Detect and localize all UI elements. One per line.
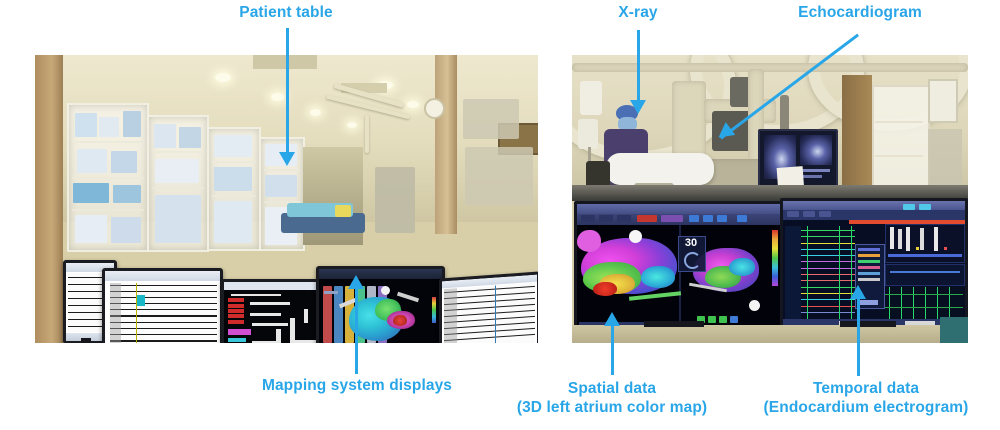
toolbar-chip [581, 215, 595, 222]
eg-trace [801, 243, 855, 244]
grid-line [949, 287, 950, 320]
arrow-patient-table-head [279, 152, 295, 166]
supply-pack [214, 135, 252, 157]
toolbar-chip [661, 215, 683, 222]
label-mapping-system-displays: Mapping system displays [237, 376, 477, 395]
atrium-voltage-red-zone [593, 282, 617, 296]
spatial-data-line1: Spatial data [568, 380, 656, 397]
label-echocardiogram: Echocardiogram [760, 3, 960, 22]
supply-pack [155, 195, 201, 243]
eg-trace [801, 261, 855, 262]
supply-pack [75, 215, 107, 243]
trace-cursor [495, 286, 496, 343]
toolbar-chip [787, 211, 799, 217]
arrow-mapping-displays-head [348, 275, 364, 289]
iv-bag [580, 81, 602, 115]
catheter-tail [397, 292, 419, 303]
bottom-toolbar-chip [708, 316, 716, 323]
grid-line [937, 287, 938, 320]
ceiling-vent [253, 55, 317, 69]
toolbar-chip [819, 211, 831, 217]
eg-trace [801, 306, 855, 307]
toolbar-chip [599, 215, 613, 222]
spatial-data-line2: (3D left atrium color map) [517, 399, 707, 416]
toolbar-chip [637, 215, 657, 222]
supply-pack [75, 113, 97, 137]
patient-table-item [335, 205, 351, 217]
screen-label [324, 291, 338, 294]
toolbar-chip [903, 204, 915, 210]
ceiling-boom-arm [365, 115, 369, 153]
supply-pack [123, 111, 141, 137]
toolbar-chip [689, 215, 699, 222]
arrow-spatial-data-head [604, 312, 620, 326]
secondary-pane [885, 224, 965, 264]
temporal-data-line2: (Endocardium electrogram) [764, 399, 969, 416]
wall-clock-icon [424, 98, 445, 119]
label-spatial-data: Spatial data (3D left atrium color map) [492, 379, 732, 417]
grid-line [901, 287, 902, 320]
sweep-marker [807, 226, 808, 322]
grid-traces-pane [885, 287, 963, 320]
trace-marker [137, 295, 145, 306]
monitor-electrogram-temporal [780, 198, 968, 330]
echo-image [800, 135, 832, 165]
arrow-temporal-data-head [850, 285, 866, 299]
supply-pack [77, 149, 107, 173]
arrow-xray [637, 30, 640, 102]
toolbar-chip [737, 215, 747, 222]
bottom-toolbar-chip [730, 316, 738, 323]
grid-baseline [885, 307, 963, 308]
monitor-base [644, 321, 704, 327]
arrow-xray-head [630, 100, 646, 114]
label-temporal-data: Temporal data (Endocardium electrogram) [740, 379, 992, 417]
lab-equipment [465, 147, 533, 205]
toolbar-chip [919, 204, 931, 210]
grid-line [913, 287, 914, 320]
eg-trace [801, 293, 855, 294]
channel-label-column [785, 226, 801, 322]
arrow-spatial-data [611, 325, 614, 375]
toolbar-chip [717, 215, 727, 222]
reference-sphere [381, 286, 390, 295]
pulmonary-vein-stub [577, 230, 601, 252]
supply-pack [155, 159, 199, 183]
wall-panel [928, 79, 958, 123]
console-desk [572, 325, 968, 343]
color-scale-bar [432, 297, 436, 323]
ceiling-light-icon [310, 109, 321, 116]
lab-equipment [375, 167, 415, 233]
eg-trace [801, 249, 855, 250]
supply-cabinet [207, 127, 261, 251]
echo-readout [800, 169, 830, 172]
iv-bag [578, 119, 598, 149]
supply-cabinet [147, 115, 209, 252]
monitor-base [840, 321, 896, 327]
eg-trace [801, 268, 855, 269]
ceiling-light-icon [215, 73, 231, 82]
trace-panel-left [444, 288, 457, 343]
grid-baseline [885, 294, 963, 295]
voltage-color-scale [772, 230, 778, 286]
supply-pack [99, 117, 119, 137]
monitor-stand [81, 338, 91, 343]
atrium-voltage-cyan-zone [729, 258, 755, 276]
eg-trace [801, 274, 855, 275]
supply-pack [154, 124, 176, 148]
supply-cabinet [67, 103, 149, 252]
trace-cursor [136, 283, 137, 343]
label-patient-table: Patient table [186, 3, 386, 22]
supply-pack [111, 151, 137, 173]
eg-trace [801, 312, 855, 313]
bottom-toolbar-chip [719, 316, 727, 323]
trace-panel-left [110, 283, 122, 343]
tertiary-pane [885, 264, 965, 286]
sweep-marker [839, 226, 840, 322]
lab-equipment [463, 99, 519, 139]
eg-trace [801, 280, 855, 281]
monitor-3d-map [316, 266, 445, 343]
map-scale-gauge [684, 252, 701, 269]
temporal-data-line1: Temporal data [813, 380, 919, 397]
toolbar-chip [803, 211, 815, 217]
label-xray: X-ray [588, 3, 688, 22]
ceiling-light-icon [407, 101, 419, 108]
reference-sphere [749, 300, 760, 311]
supply-pack [179, 127, 201, 148]
wall-panel-teal [940, 317, 968, 343]
arrow-temporal-data [857, 298, 860, 376]
eg-trace [801, 287, 855, 288]
monitor-auxiliary-data [439, 271, 538, 343]
supply-pack [113, 185, 141, 203]
toolbar-chip [617, 215, 631, 222]
monitor-electrogram-2 [102, 268, 223, 343]
supply-pack [214, 201, 252, 243]
room-pillar [35, 55, 63, 343]
grid-line [925, 287, 926, 320]
supply-pack [214, 167, 252, 191]
toolbar-chip [323, 286, 332, 343]
grid-line [889, 287, 890, 320]
eg-trace [801, 236, 855, 237]
supply-pack [73, 183, 109, 203]
room-column [435, 55, 457, 234]
reference-sphere [629, 230, 642, 243]
ceiling-boom [572, 63, 968, 72]
ceiling-light-icon [271, 93, 284, 101]
ceiling-light-icon [347, 122, 357, 128]
supply-pack [111, 217, 141, 243]
eg-trace [801, 299, 855, 300]
atrium-mesh-red [393, 315, 407, 326]
toolbar-chip [334, 286, 343, 343]
eg-trace [801, 255, 855, 256]
map-scale-value: 30 [680, 237, 702, 249]
arrow-mapping-displays [355, 288, 358, 374]
atrium-voltage-cyan-zone [641, 266, 675, 288]
supply-pack [265, 175, 297, 197]
arrow-patient-table [286, 28, 289, 154]
patient-table [606, 153, 714, 185]
sweep-marker [851, 226, 852, 322]
eg-trace [801, 230, 855, 231]
toolbar-chip [703, 215, 713, 222]
